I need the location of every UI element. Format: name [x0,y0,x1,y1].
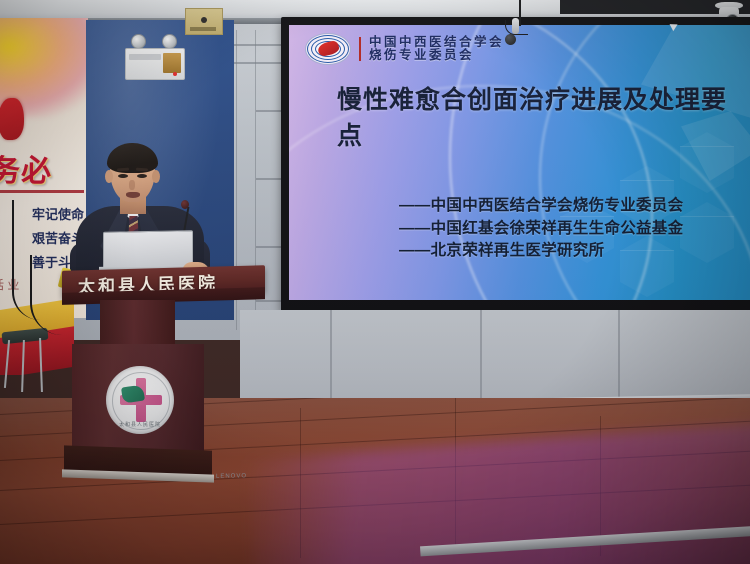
wall-seam [330,310,332,406]
emblem-caption: 太和县人民医院 [106,421,174,428]
speaker-eye [118,174,128,178]
wall-seam [234,62,286,64]
ceiling-hanging-microphone-body [512,18,519,34]
emergency-lamp-icon [162,34,177,49]
logo-divider [359,37,361,61]
wall-seam [618,310,620,398]
logo-org-line1: 中国中西医结合学会 [369,36,504,50]
slide-affiliation-line: ——中国中西医结合学会烧伤专业委员会 [399,195,747,218]
conference-room-photo: 务必 牢记使命 艰苦奋斗 善于斗争 话 业 [0,0,750,564]
speaker-ear [152,170,160,183]
gooseneck-microphone-icon [181,200,189,209]
slide-affiliation-line: ——中国红基会徐荣祥再生生命公益基金 [399,218,747,241]
slide-affiliations: ——中国中西医结合学会烧伤专业委员会 ——中国红基会徐荣祥再生生命公益基金 ——… [399,195,747,263]
laptop-brand-logo: LENOVO [216,473,247,480]
wall-junction-box-icon [185,8,223,35]
speaker-ear [105,170,113,183]
emergency-label [129,54,161,60]
logo-org-line2: 烧伤专业委员会 [369,49,504,63]
podium-column [100,300,175,348]
presentation-screen[interactable]: 中国中西医结合学会 烧伤专业委员会 慢性难愈合创面治疗进展及处理要点 ——中国中… [289,25,750,300]
hospital-cross-emblem-icon: 太和县人民医院 [106,366,174,434]
emergency-lamp-icon [131,34,146,49]
speaker-nose [129,180,135,190]
wall-seam [480,310,482,402]
banner-red-ornament-icon [0,98,24,140]
emergency-led-icon [173,72,177,76]
cacm-burn-committee-emblem-icon [305,33,351,65]
wallbox-label [190,27,216,31]
emergency-light-unit [125,48,185,80]
banner-divider [0,190,84,193]
logo-text-block: 中国中西医结合学会 烧伤专业委员会 [369,36,504,63]
speaker-eye [137,174,147,178]
wallbox-sensor-icon [201,17,207,23]
slide-header-logo: 中国中西医结合学会 烧伤专业委员会 [305,33,504,65]
ceiling-hanging-microphone-icon [505,34,516,45]
emergency-badge [163,53,181,73]
wall-seam [234,44,286,46]
slide-title: 慢性难愈合创面治疗进展及处理要点 [337,83,737,154]
banner-headline: 务必 [0,146,70,190]
speaker-mouth [126,192,140,198]
slide-affiliation-line: ——北京荣祥再生医学研究所 [399,240,747,263]
